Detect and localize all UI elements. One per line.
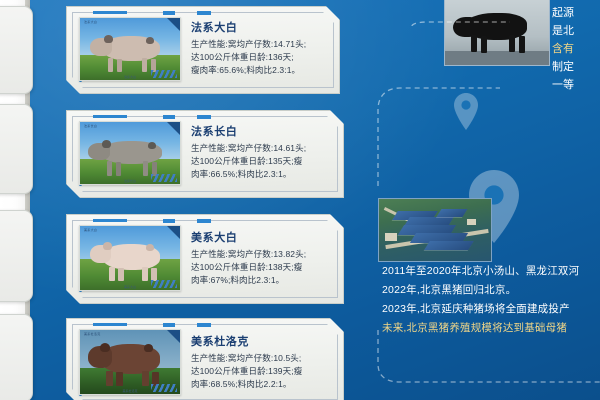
photo-corner-notch — [167, 330, 180, 343]
card-accent-tick — [163, 323, 175, 327]
photo-tag: 美系大白 — [84, 228, 97, 232]
card-stub-1 — [0, 6, 33, 94]
card-accent-tick — [93, 115, 127, 118]
photo-tag: 法系大白 — [84, 20, 97, 24]
breed-card-fa-xi-chang-bai[interactable]: 法系长白 法系长白 法系长白 生产性能:窝均产仔数:14.61头; 达100公斤… — [66, 110, 344, 198]
breed-title: 法系长白 — [191, 123, 237, 139]
card-accent-tick — [197, 219, 211, 223]
card-accent-tick — [197, 323, 211, 327]
breed-photo: 美系杜洛克 美系杜洛克 — [79, 329, 181, 395]
timeline-line-2: 2022年,北京黑猪回归北京。 — [382, 281, 516, 300]
timeline-line-1: 2011年至2020年北京小汤山、黑龙江双河 — [382, 262, 579, 281]
photo-stripe-decoration — [151, 70, 177, 78]
photo-footer: 美系大白 — [124, 285, 136, 289]
breed-card-mei-xi-da-bai[interactable]: 美系大白 美系大白 美系大白 生产性能:窝均产仔数:13.82头; 达100公斤… — [66, 214, 344, 304]
card-stub-2 — [0, 104, 33, 194]
aerial-building — [467, 219, 476, 225]
photo-footer: 法系长白 — [124, 179, 136, 183]
photo-tag: 法系长白 — [84, 124, 97, 128]
breed-photo: 法系大白 法系大白 — [79, 17, 181, 81]
breed-spec-line-3: 瘦肉率:65.6%;料肉比2.3:1。 — [191, 64, 300, 77]
card-accent-tick — [197, 11, 211, 15]
card-accent-tick — [197, 115, 211, 119]
breed-title: 法系大白 — [191, 19, 237, 35]
photo-footer: 美系杜洛克 — [122, 389, 137, 393]
photo-tag: 美系杜洛克 — [84, 332, 101, 336]
breed-spec-line-2: 达100公斤体重日龄:138天;瘦 — [191, 261, 302, 274]
photo-corner-notch — [167, 18, 180, 31]
timeline-line-4: 未来,北京黑猪养殖规模将达到基础母猪 — [382, 319, 567, 338]
breed-spec-line-3: 肉率:68.5%;料肉比2.2:1。 — [191, 378, 292, 391]
breed-title: 美系杜洛克 — [191, 333, 249, 349]
breed-photo: 美系大白 美系大白 — [79, 225, 181, 291]
aerial-roof — [437, 209, 468, 217]
photo-stripe-decoration — [151, 384, 177, 392]
card-accent-tick — [93, 11, 127, 14]
photo-stripe-decoration — [151, 280, 177, 288]
card-accent-tick — [163, 11, 175, 15]
aerial-farm-photo — [378, 198, 492, 262]
breed-spec-line-2: 达100公斤体重日龄:135天;瘦 — [191, 155, 302, 168]
breed-spec-line-2: 达100公斤体重日龄:139天;瘦 — [191, 365, 302, 378]
breed-card-fa-xi-da-bai[interactable]: 法系大白 法系大白 法系大白 生产性能:窝均产仔数:14.71头; 达100公斤… — [66, 6, 340, 94]
breed-title: 美系大白 — [191, 229, 237, 245]
breed-spec-line-3: 肉率:66.5%;料肉比2.3:1。 — [191, 168, 292, 181]
photo-corner-notch — [167, 122, 180, 135]
photo-stripe-decoration — [151, 174, 177, 182]
card-accent-tick — [93, 323, 127, 326]
breed-photo: 法系长白 法系长白 — [79, 121, 181, 185]
photo-footer: 法系大白 — [124, 75, 136, 79]
photo-corner-notch — [167, 226, 180, 239]
timeline-line-3: 2023年,北京延庆种猪场将全面建成投产 — [382, 300, 570, 319]
breed-spec-line-1: 生产性能:窝均产仔数:14.61头; — [191, 142, 306, 155]
card-accent-tick — [163, 115, 175, 119]
card-accent-tick — [163, 219, 175, 223]
breed-spec-line-3: 肉率:67%;料肉比2.3:1。 — [191, 274, 284, 287]
breed-card-mei-xi-du-luo-ke[interactable]: 美系杜洛克 美系杜洛克 美系杜洛克 生产性能:窝均产仔数:10.5头; 达100… — [66, 318, 344, 400]
aerial-building — [385, 233, 397, 241]
aerial-roof — [424, 241, 474, 250]
breed-spec-line-1: 生产性能:窝均产仔数:10.5头; — [191, 352, 301, 365]
breed-spec-line-1: 生产性能:窝均产仔数:13.82头; — [191, 248, 306, 261]
breed-spec-line-2: 达100公斤体重日龄:136天; — [191, 51, 294, 64]
exhibition-panel-screenshot: 起源 是北 含有 制定 一等 2011年至2020年北京小汤山、黑龙江双河 2 — [0, 0, 600, 400]
map-pin-small-icon[interactable] — [452, 92, 480, 132]
breed-spec-line-1: 生产性能:窝均产仔数:14.71头; — [191, 38, 306, 51]
card-accent-tick — [93, 219, 127, 222]
